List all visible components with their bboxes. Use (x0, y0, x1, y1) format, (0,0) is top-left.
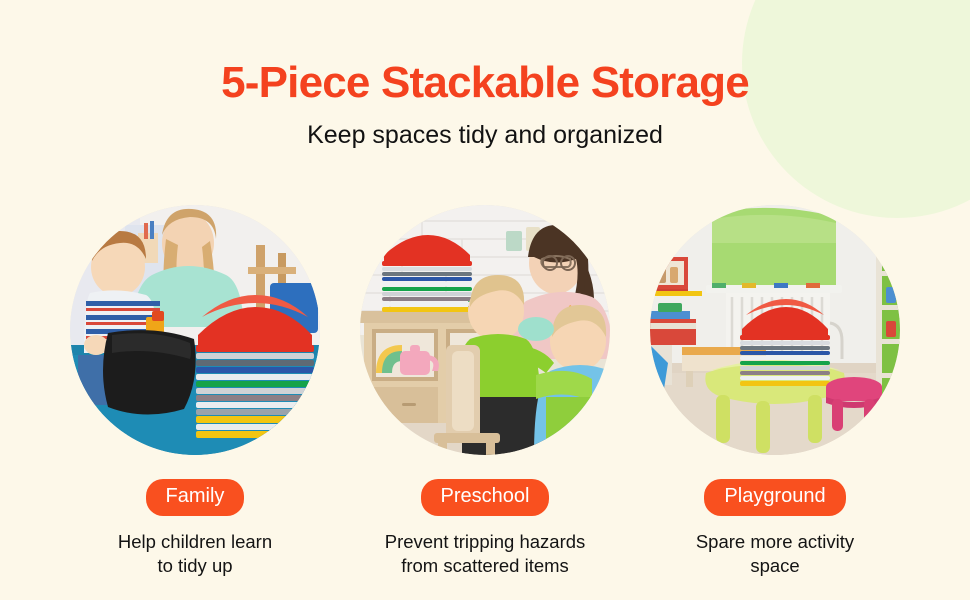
caption-playground-line1: Spare more activity (696, 531, 854, 552)
badge-playground[interactable]: Playground (704, 479, 845, 516)
preschool-classroom-photo (360, 205, 610, 455)
caption-family-line1: Help children learn (118, 531, 272, 552)
feature-card-playground: Playground Spare more activity space (630, 205, 920, 579)
caption-playground: Spare more activity space (645, 530, 905, 580)
promo-banner: 5-Piece Stackable Storage Keep spaces ti… (0, 0, 970, 600)
caption-preschool-line1: Prevent tripping hazards (385, 531, 586, 552)
caption-preschool-line2: from scattered items (401, 555, 569, 576)
caption-family: Help children learn to tidy up (65, 530, 325, 580)
badge-preschool[interactable]: Preschool (421, 479, 550, 516)
feature-card-family: Family Help children learn to tidy up (50, 205, 340, 579)
caption-family-line2: to tidy up (157, 555, 232, 576)
feature-card-list: Family Help children learn to tidy up (0, 205, 970, 579)
feature-card-preschool: Preschool Prevent tripping hazards from … (340, 205, 630, 579)
caption-preschool: Prevent tripping hazards from scattered … (355, 530, 615, 580)
banner-header: 5-Piece Stackable Storage Keep spaces ti… (0, 0, 970, 150)
caption-playground-line2: space (750, 555, 799, 576)
page-title: 5-Piece Stackable Storage (0, 0, 970, 107)
family-living-room-photo (70, 205, 320, 455)
playground-playroom-photo (650, 205, 900, 455)
badge-family[interactable]: Family (146, 479, 245, 516)
page-subtitle: Keep spaces tidy and organized (0, 107, 970, 150)
